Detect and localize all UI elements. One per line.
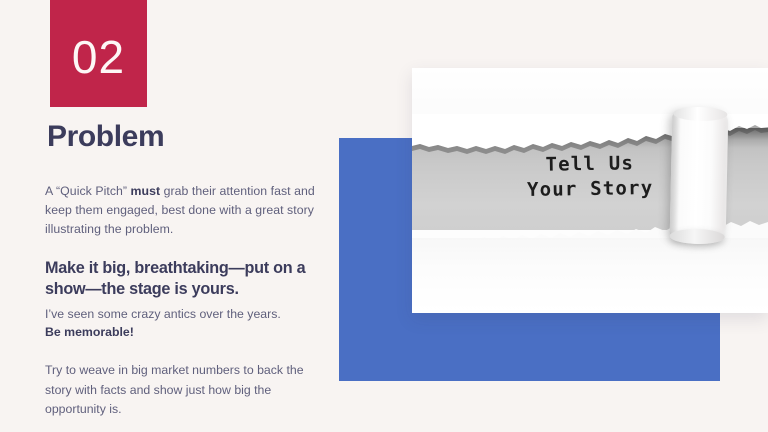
section-number-label: 02 [72, 28, 125, 80]
torn-paper-photo: Tell Us Your Story [412, 68, 768, 313]
paper-bottom-sheet [412, 238, 768, 313]
intro-emphasis: must [131, 184, 161, 198]
intro-paragraph: A “Quick Pitch” must grab their attentio… [45, 182, 333, 240]
followup-emphasis: Be memorable! [45, 325, 134, 339]
paper-curl-shading [670, 109, 682, 239]
closing-paragraph: Try to weave in big market numbers to ba… [45, 361, 333, 419]
followup-paragraph: I’ve seen some crazy antics over the yea… [45, 305, 333, 342]
page-title: Problem [47, 120, 164, 153]
body-content: A “Quick Pitch” must grab their attentio… [45, 182, 333, 419]
callout-heading: Make it big, breathtaking—put on a show—… [45, 258, 333, 301]
followup-text: I’ve seen some crazy antics over the yea… [45, 307, 281, 321]
paper-curl [670, 109, 729, 240]
paper-curl-top-cap [673, 106, 727, 121]
intro-pre-text: A “Quick Pitch” [45, 184, 131, 198]
section-number-badge: 02 [50, 0, 147, 107]
slide-root: 02 Problem A “Quick Pitch” must grab the… [0, 0, 768, 432]
